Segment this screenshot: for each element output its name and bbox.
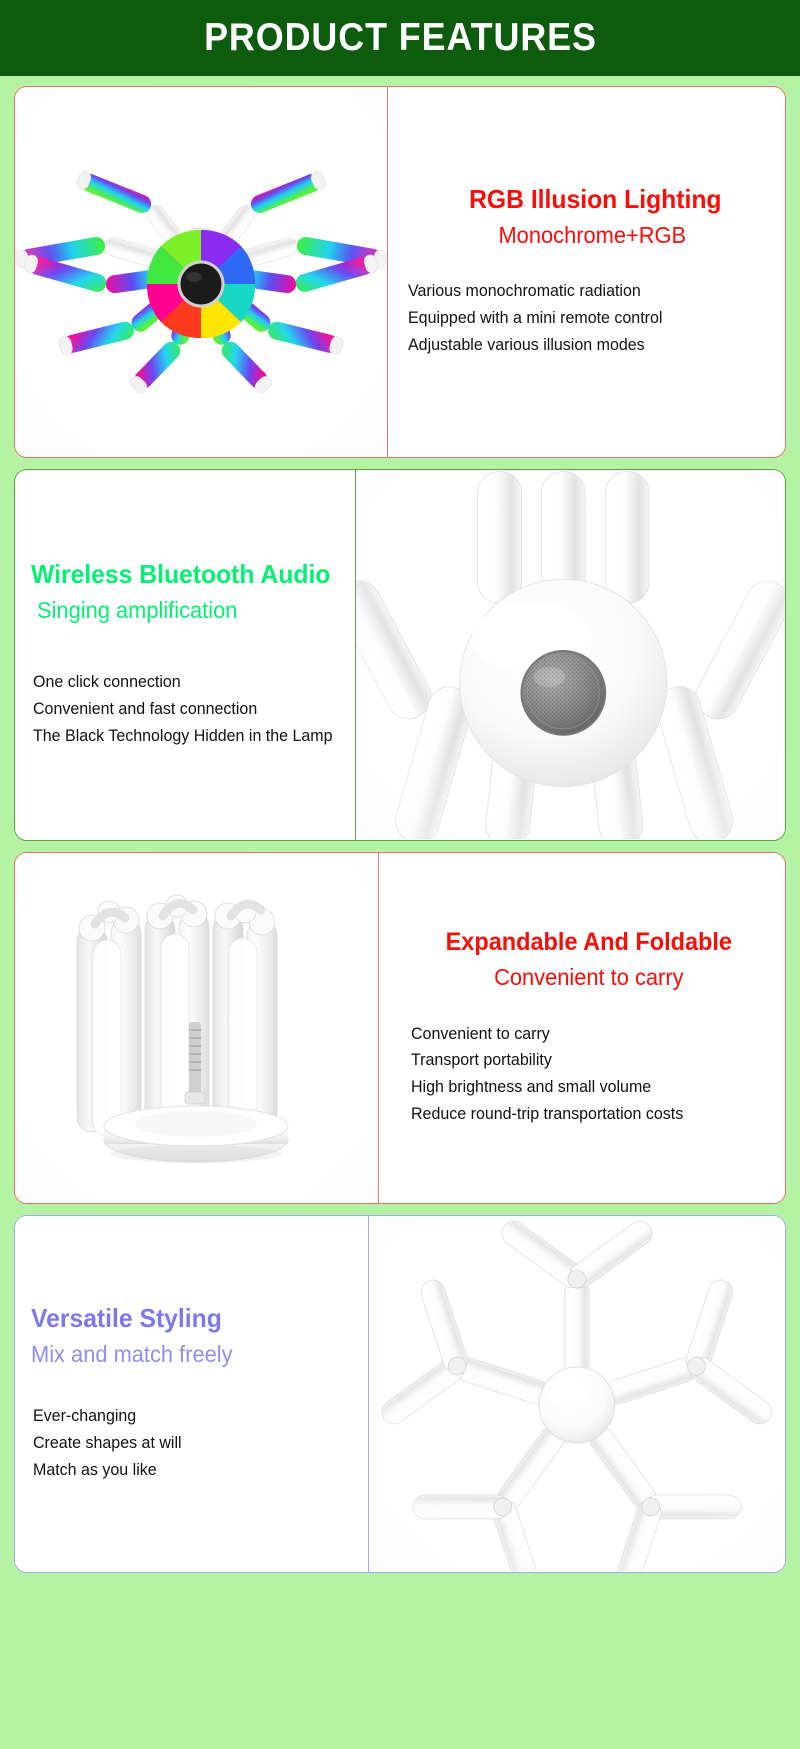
list-item: Various monochromatic radiation — [408, 278, 773, 305]
list-item: Equipped with a mini remote control — [408, 305, 773, 332]
card-3-image-panel — [15, 853, 378, 1203]
lamp-with-speaker-grille-illustration — [356, 471, 785, 839]
list-item: Create shapes at will — [33, 1430, 358, 1457]
card-4-image-panel — [369, 1216, 785, 1572]
card-3-feature-list: Convenient to carry Transport portabilit… — [395, 1021, 785, 1128]
list-item: One click connection — [33, 669, 345, 696]
rgb-deformable-lamp-illustration — [15, 88, 387, 456]
rgb-ring — [147, 230, 255, 338]
pentagon-lamp-arrangement-illustration — [369, 1217, 785, 1571]
list-item: Convenient to carry — [411, 1021, 773, 1048]
card-2-image-panel — [356, 470, 785, 840]
speaker-grille-icon — [522, 651, 606, 735]
list-item: Transport portability — [411, 1047, 773, 1074]
list-item: High brightness and small volume — [411, 1074, 773, 1101]
card-1-subheading: Monochrome+RGB — [412, 222, 774, 248]
list-item: Ever-changing — [33, 1403, 358, 1430]
card-2-text-panel: Wireless Bluetooth Audio Singing amplifi… — [15, 470, 355, 840]
feature-card-expandable-and-foldable: Expandable And Foldable Convenient to ca… — [14, 852, 786, 1204]
card-3-subheading: Convenient to carry — [405, 964, 773, 990]
card-1-heading: RGB Illusion Lighting — [418, 185, 774, 214]
card-2-heading: Wireless Bluetooth Audio — [31, 560, 339, 589]
card-1-feature-list: Various monochromatic radiation Equipped… — [402, 278, 785, 358]
list-item: Match as you like — [33, 1457, 358, 1484]
card-4-feature-list: Ever-changing Create shapes at will Matc… — [31, 1403, 368, 1483]
feature-card-wireless-bluetooth-audio: Wireless Bluetooth Audio Singing amplifi… — [14, 469, 786, 841]
page-title: PRODUCT FEATURES — [204, 16, 597, 60]
card-2-feature-list: One click connection Convenient and fast… — [31, 669, 355, 749]
card-3-heading: Expandable And Foldable — [407, 929, 771, 957]
page-header-banner: PRODUCT FEATURES — [0, 0, 800, 76]
list-item: Convenient and fast connection — [33, 696, 345, 723]
card-2-subheading: Singing amplification — [37, 597, 339, 623]
card-4-heading: Versatile Styling — [31, 1304, 351, 1333]
card-1-text-panel: RGB Illusion Lighting Monochrome+RGB Var… — [388, 87, 785, 457]
list-item: Adjustable various illusion modes — [408, 332, 773, 359]
card-1-image-panel — [15, 87, 387, 457]
card-4-subheading: Mix and match freely — [31, 1341, 351, 1367]
feature-cards-container: RGB Illusion Lighting Monochrome+RGB Var… — [0, 76, 800, 1585]
card-3-text-panel: Expandable And Foldable Convenient to ca… — [379, 853, 785, 1203]
feature-card-versatile-styling: Versatile Styling Mix and match freely E… — [14, 1215, 786, 1573]
feature-card-rgb-illusion-lighting: RGB Illusion Lighting Monochrome+RGB Var… — [14, 86, 786, 458]
list-item: Reduce round-trip transportation costs — [411, 1101, 773, 1128]
list-item: The Black Technology Hidden in the Lamp — [33, 723, 345, 750]
card-4-text-panel: Versatile Styling Mix and match freely E… — [15, 1216, 368, 1572]
folded-lamp-tubes-illustration — [15, 854, 378, 1202]
